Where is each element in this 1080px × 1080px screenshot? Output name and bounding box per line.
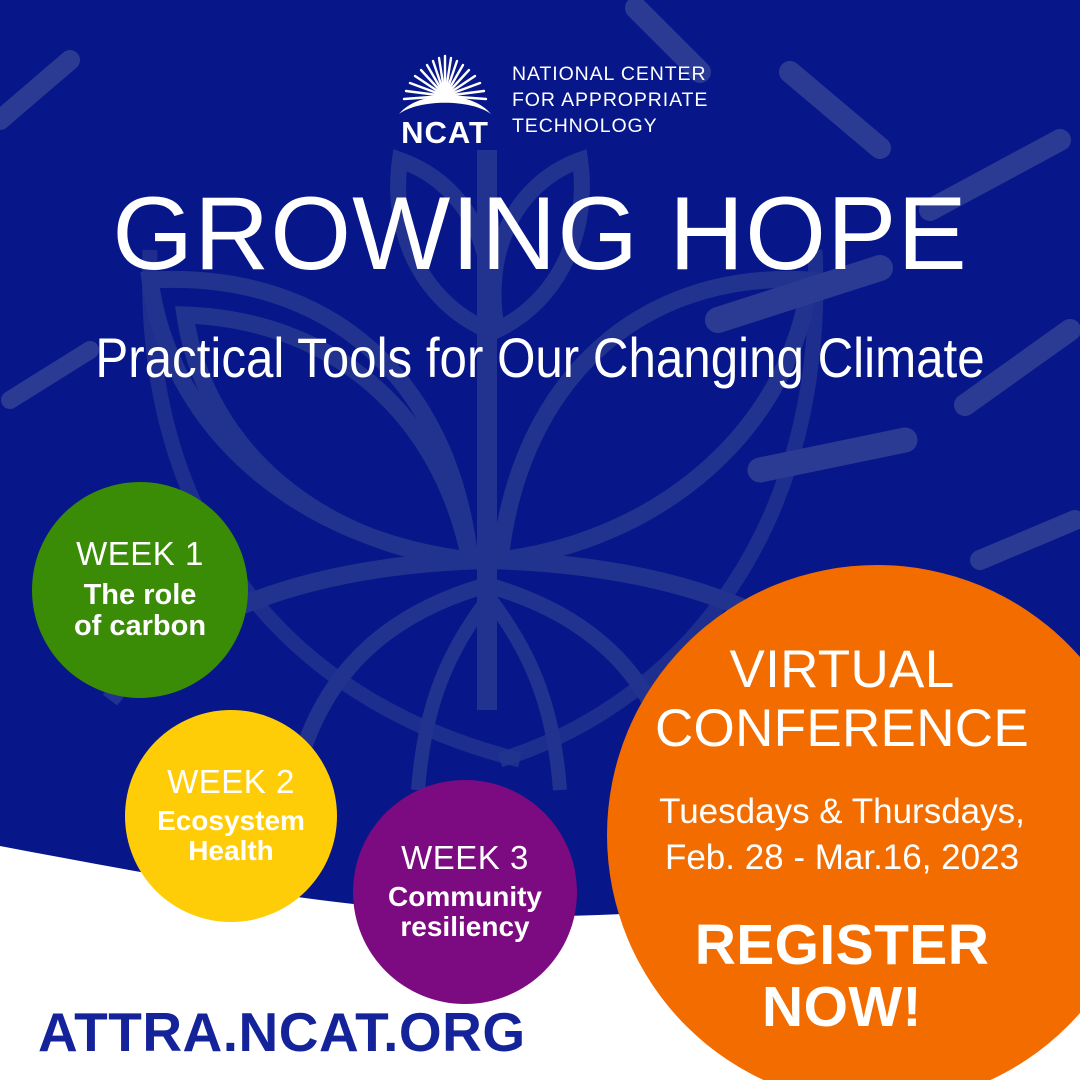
website-url[interactable]: ATTRA.NCAT.ORG <box>38 1000 526 1064</box>
conference-title-line-2: CONFERENCE <box>617 699 1067 758</box>
poster-canvas: NCAT NATIONAL CENTER FOR APPROPRIATE TEC… <box>0 0 1080 1080</box>
conference-dates-line-1: Tuesdays & Thursdays, <box>617 789 1067 835</box>
conference-dates-line-2: Feb. 28 - Mar.16, 2023 <box>617 835 1067 881</box>
cta-line-2: NOW! <box>617 977 1067 1039</box>
conference-title-line-1: VIRTUAL <box>617 640 1067 699</box>
register-now-button[interactable]: REGISTER NOW! <box>617 915 1067 1038</box>
cta-line-1: REGISTER <box>617 915 1067 977</box>
conference-content: VIRTUAL CONFERENCE Tuesdays & Thursdays,… <box>617 640 1067 1038</box>
